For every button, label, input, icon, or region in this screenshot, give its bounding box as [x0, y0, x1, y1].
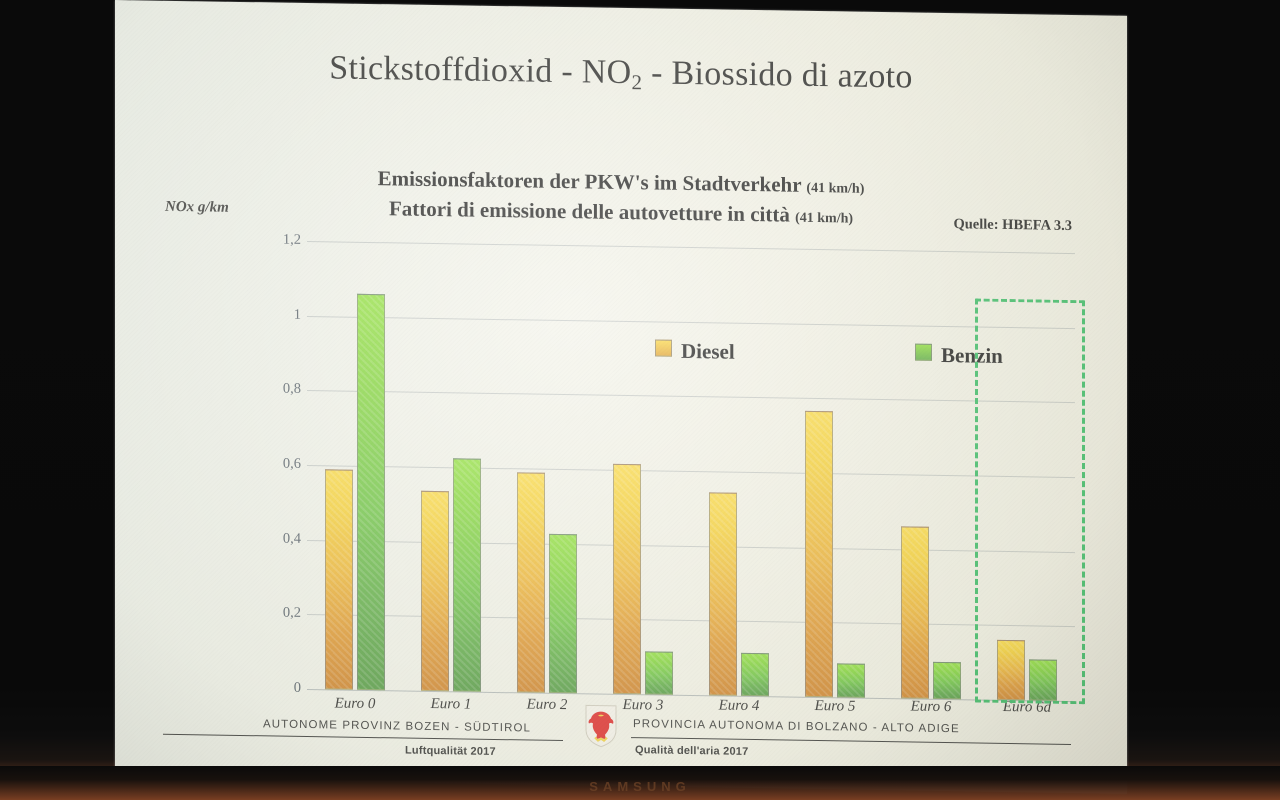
y-axis-tick-label: 0,4 [245, 530, 301, 548]
samsung-brand-label: SAMSUNG [0, 779, 1280, 794]
footer-rule-german [163, 734, 563, 741]
bar-diesel-euro-5 [805, 411, 833, 697]
legend-swatch-benzin [915, 344, 932, 361]
legend-label-diesel: Diesel [681, 339, 735, 364]
y-axis-tick-label: 0,8 [245, 380, 301, 398]
bar-benzin-euro-0 [357, 294, 385, 690]
gridline [307, 390, 1075, 403]
footer-german-authority: AUTONOME PROVINZ BOZEN - SÜDTIROL [263, 718, 531, 734]
bar-benzin-euro-1 [453, 458, 481, 692]
projected-slide-photo: Stickstoffdioxid - NO2 - Biossido di azo… [0, 0, 1280, 800]
bar-diesel-euro-4 [709, 492, 737, 696]
bar-diesel-euro-1 [421, 491, 449, 691]
tyrol-eagle-icon [583, 703, 619, 748]
bar-chart: 00,20,40,60,811,2Euro 0Euro 1Euro 2Euro … [115, 0, 1127, 794]
highlight-box-euro-6d [975, 299, 1085, 705]
legend-item-diesel: Diesel [655, 338, 735, 364]
y-axis-tick-label: 1,2 [245, 231, 301, 249]
slide-footer: AUTONOME PROVINZ BOZEN - SÜDTIROL Luftqu… [115, 676, 1127, 778]
footer-rule-italian [631, 737, 1071, 745]
y-axis-tick-label: 1 [245, 306, 301, 324]
bar-diesel-euro-2 [517, 472, 545, 693]
presentation-slide: Stickstoffdioxid - NO2 - Biossido di azo… [115, 0, 1127, 794]
footer-italian-authority: PROVINCIA AUTONOMA DI BOLZANO - ALTO ADI… [633, 718, 960, 735]
legend-swatch-diesel [655, 339, 672, 356]
gridline [307, 316, 1075, 329]
gridline [307, 465, 1075, 478]
bar-diesel-euro-6 [901, 527, 929, 699]
bar-diesel-euro-3 [613, 464, 641, 694]
bar-diesel-euro-0 [325, 469, 353, 690]
footer-german-subtitle: Luftqualität 2017 [405, 745, 496, 758]
gridline [307, 241, 1075, 254]
bar-benzin-euro-2 [549, 534, 577, 693]
y-axis-tick-label: 0,6 [245, 455, 301, 473]
y-axis-tick-label: 0,2 [245, 604, 301, 622]
footer-italian-subtitle: Qualità dell'aria 2017 [635, 744, 748, 758]
